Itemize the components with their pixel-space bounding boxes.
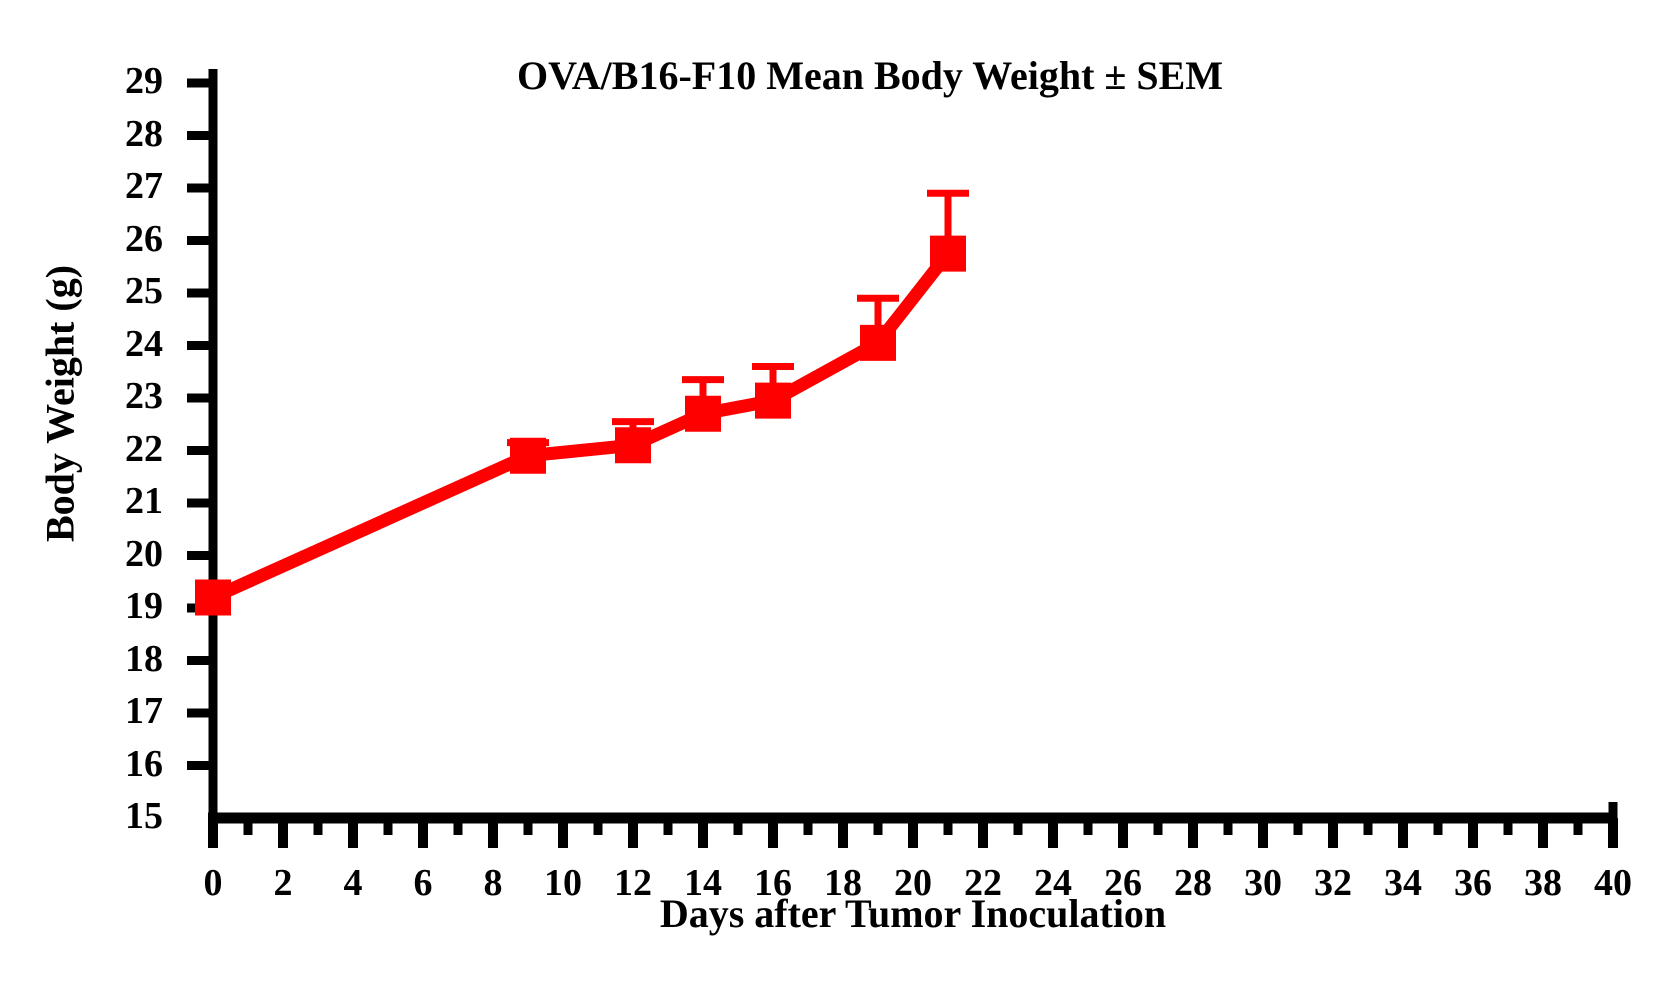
axis-ticks	[187, 83, 1613, 848]
data-point-marker	[510, 438, 546, 474]
x-tick-label: 24	[1018, 864, 1088, 902]
x-tick-label: 38	[1508, 864, 1578, 902]
axes	[208, 69, 1613, 818]
y-tick-label: 21	[93, 482, 163, 520]
y-tick-label: 16	[93, 745, 163, 783]
y-tick-label: 29	[93, 62, 163, 100]
x-tick-label: 4	[318, 864, 388, 902]
x-tick-label: 22	[948, 864, 1018, 902]
x-tick-label: 30	[1228, 864, 1298, 902]
x-tick-label: 36	[1438, 864, 1508, 902]
y-tick-label: 18	[93, 640, 163, 678]
x-tick-label: 40	[1578, 864, 1648, 902]
x-tick-label: 16	[738, 864, 808, 902]
series-line	[213, 254, 948, 598]
x-tick-label: 28	[1158, 864, 1228, 902]
y-tick-label: 26	[93, 220, 163, 258]
y-tick-label: 17	[93, 692, 163, 730]
x-tick-label: 14	[668, 864, 738, 902]
x-tick-label: 2	[248, 864, 318, 902]
y-tick-label: 20	[93, 535, 163, 573]
x-tick-label: 18	[808, 864, 878, 902]
data-point-marker	[930, 236, 966, 272]
x-tick-label: 26	[1088, 864, 1158, 902]
x-tick-label: 20	[878, 864, 948, 902]
y-tick-label: 25	[93, 272, 163, 310]
x-tick-label: 0	[178, 864, 248, 902]
y-tick-label: 22	[93, 430, 163, 468]
y-tick-label: 24	[93, 325, 163, 363]
data-point-marker	[195, 580, 231, 616]
data-point-marker	[755, 383, 791, 419]
x-tick-label: 12	[598, 864, 668, 902]
data-point-marker	[615, 427, 651, 463]
x-tick-label: 6	[388, 864, 458, 902]
y-tick-label: 23	[93, 377, 163, 415]
y-tick-label: 28	[93, 115, 163, 153]
plot-area	[0, 0, 1678, 994]
y-tick-label: 15	[93, 797, 163, 835]
x-tick-label: 10	[528, 864, 598, 902]
data-point-marker	[685, 396, 721, 432]
chart-page: OVA/B16-F10 Mean Body Weight ± SEM Body …	[0, 0, 1678, 994]
y-tick-label: 19	[93, 587, 163, 625]
x-tick-label: 8	[458, 864, 528, 902]
data-point-marker	[860, 325, 896, 361]
data-series	[195, 193, 969, 615]
x-tick-label: 32	[1298, 864, 1368, 902]
y-tick-label: 27	[93, 167, 163, 205]
x-tick-label: 34	[1368, 864, 1438, 902]
